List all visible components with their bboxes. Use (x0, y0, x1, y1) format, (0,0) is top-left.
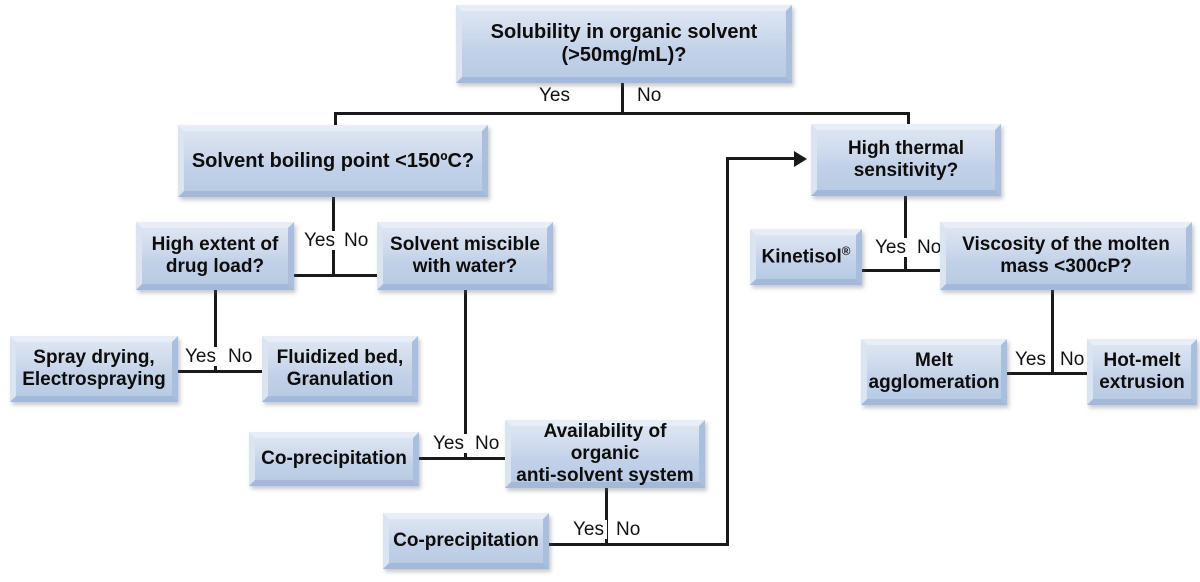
node-spray-drying[interactable]: Spray drying, Electrospraying (10, 336, 178, 402)
connector-feedback-vertical (726, 158, 729, 546)
node-viscosity-line1: Viscosity of the molten (962, 234, 1170, 255)
registered-trademark-icon: ® (842, 245, 851, 258)
node-viscosity-line2: mass <300cP? (1000, 256, 1132, 277)
node-viscosity[interactable]: Viscosity of the molten mass <300cP? (940, 222, 1192, 290)
node-hot-melt-line1: Hot-melt (1103, 350, 1180, 371)
node-melt-agglomeration-text: Melt agglomeration (867, 350, 1002, 394)
node-spray-drying-line2: Electrospraying (22, 369, 166, 390)
node-antisolvent-line1: Availability of organic (544, 421, 667, 464)
node-high-extent-line2: drug load? (166, 256, 264, 277)
node-boiling-point-text: Solvent boiling point <150ºC? (184, 150, 482, 173)
node-hot-melt-text: Hot-melt extrusion (1093, 350, 1191, 394)
label-antisolvent-yes: Yes (570, 520, 607, 539)
node-coprecipitation-bottom[interactable]: Co-precipitation (383, 513, 549, 569)
node-solvent-miscible[interactable]: Solvent miscible with water? (377, 222, 553, 290)
node-fluidized-bed-line1: Fluidized bed, (277, 347, 404, 368)
node-solvent-miscible-line1: Solvent miscible (390, 234, 540, 255)
node-antisolvent-text: Availability of organic anti-solvent sys… (511, 421, 699, 487)
label-miscible-no: No (472, 434, 502, 453)
connector-boiling-bus (293, 274, 385, 277)
node-high-extent-line1: High extent of (152, 234, 279, 255)
connector-drugload-bus (176, 370, 264, 373)
connector-miscible-bus (418, 457, 510, 460)
node-solubility-line1: Solubility in organic solvent (491, 21, 758, 43)
connector-feedback-horizontal (726, 157, 796, 160)
label-root-no: No (634, 86, 664, 105)
node-hot-melt-extrusion[interactable]: Hot-melt extrusion (1087, 339, 1197, 405)
node-coprecipitation-mid[interactable]: Co-precipitation (249, 432, 419, 486)
node-thermal-text: High thermal sensitivity? (817, 138, 995, 182)
node-solubility-text: Solubility in organic solvent (>50mg/mL)… (462, 21, 786, 67)
node-kinetisol-label: Kinetisol (762, 247, 842, 268)
node-high-extent-text: High extent of drug load? (142, 234, 288, 278)
connector-root-stem (621, 83, 624, 115)
node-solubility-line2: (>50mg/mL)? (561, 44, 686, 66)
node-antisolvent-availability[interactable]: Availability of organic anti-solvent sys… (505, 420, 705, 488)
label-drugload-yes: Yes (182, 347, 219, 366)
arrowhead-into-thermal (794, 151, 807, 167)
connector-viscosity-stem (1051, 290, 1054, 374)
label-boiling-yes: Yes (301, 231, 338, 250)
flowchart-canvas: Solubility in organic solvent (>50mg/mL)… (0, 0, 1200, 582)
node-solvent-miscible-line2: with water? (413, 256, 518, 277)
label-miscible-yes: Yes (430, 434, 467, 453)
node-coprecipitation-mid-text: Co-precipitation (255, 448, 413, 470)
node-solvent-miscible-text: Solvent miscible with water? (383, 234, 547, 278)
connector-thermal-stem (904, 196, 907, 272)
label-boiling-no: No (341, 231, 371, 250)
connector-viscosity-bus (1005, 372, 1095, 375)
node-melt-agglom-line1: Melt (915, 350, 953, 371)
node-fluidized-bed-line2: Granulation (287, 369, 394, 390)
node-melt-agglomeration[interactable]: Melt agglomeration (861, 339, 1007, 405)
node-thermal-line1: High thermal (848, 138, 964, 159)
node-coprecipitation-bottom-text: Co-precipitation (389, 530, 543, 552)
label-drugload-no: No (225, 347, 255, 366)
node-thermal-line2: sensitivity? (854, 160, 959, 181)
node-fluidized-bed-text: Fluidized bed, Granulation (268, 347, 412, 391)
node-solubility[interactable]: Solubility in organic solvent (>50mg/mL)… (456, 5, 792, 83)
node-hot-melt-line2: extrusion (1099, 372, 1185, 393)
connector-antisolvent-bus (549, 543, 729, 546)
label-antisolvent-no: No (613, 520, 643, 539)
connector-root-bus (334, 112, 910, 115)
node-boiling-point[interactable]: Solvent boiling point <150ºC? (178, 125, 488, 197)
node-spray-drying-text: Spray drying, Electrospraying (16, 347, 172, 391)
label-thermal-yes: Yes (872, 238, 909, 257)
label-viscosity-no: No (1057, 350, 1087, 369)
node-spray-drying-line1: Spray drying, (33, 347, 154, 368)
label-viscosity-yes: Yes (1012, 350, 1049, 369)
label-root-yes: Yes (536, 86, 573, 105)
node-antisolvent-line2: anti-solvent system (516, 465, 693, 486)
connector-thermal-bus (862, 269, 948, 272)
node-viscosity-text: Viscosity of the molten mass <300cP? (946, 234, 1186, 278)
node-high-extent-drug-load[interactable]: High extent of drug load? (136, 222, 294, 290)
node-fluidized-bed[interactable]: Fluidized bed, Granulation (262, 336, 418, 402)
node-kinetisol-text: Kinetisol® (756, 245, 856, 268)
node-melt-agglom-line2: agglomeration (869, 372, 1000, 393)
node-high-thermal-sensitivity[interactable]: High thermal sensitivity? (811, 124, 1001, 196)
node-kinetisol[interactable]: Kinetisol® (750, 229, 862, 285)
